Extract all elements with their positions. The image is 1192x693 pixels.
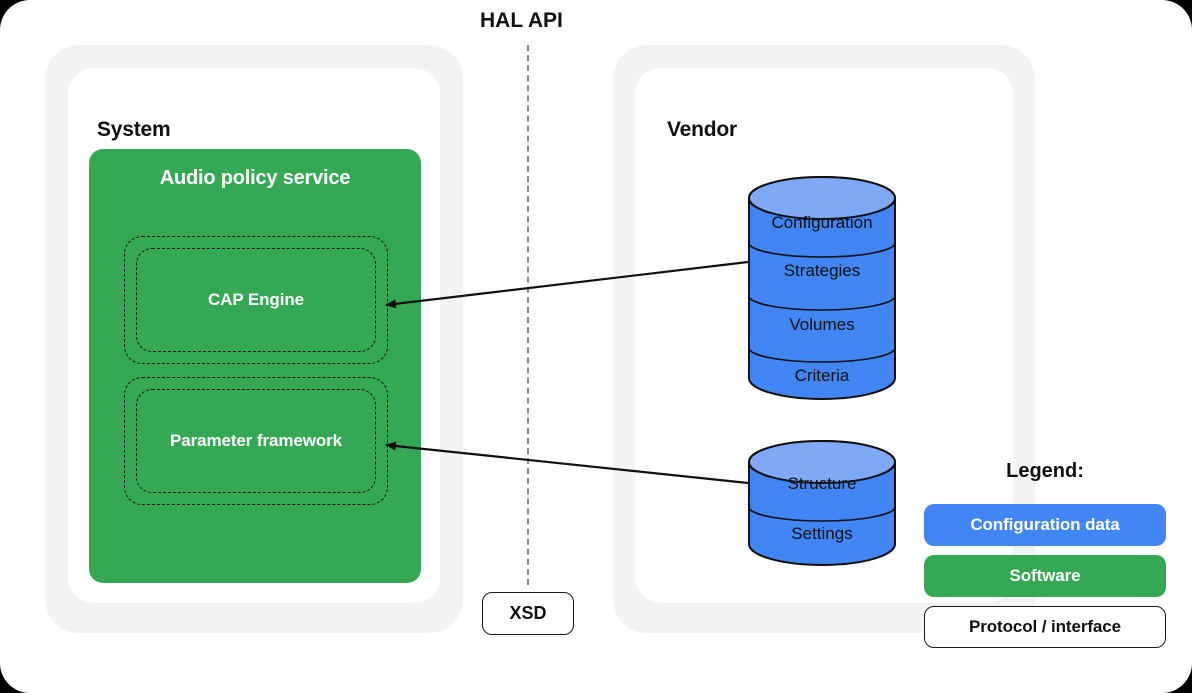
legend-item-protocol-interface[interactable]: Protocol / interface (924, 606, 1166, 648)
hal-api-divider-line (527, 45, 529, 585)
diagram-canvas: System Audio policy service CAP Engine P… (0, 0, 1192, 693)
parameter-framework-label: Parameter framework (137, 431, 375, 451)
hal-api-title: HAL API (480, 9, 563, 33)
legend-item-software[interactable]: Software (924, 555, 1166, 597)
policy-configuration-cylinder[interactable]: Configuration Strategies Volumes Criteri… (748, 176, 896, 400)
cap-engine-label: CAP Engine (137, 290, 375, 310)
cylinder-segment-label: Strategies (748, 257, 896, 285)
cylinder-segment-label: Configuration (748, 209, 896, 237)
system-title: System (97, 118, 171, 142)
parameter-framework-cylinder[interactable]: Structure Settings (748, 440, 896, 566)
cap-engine-box[interactable]: CAP Engine (136, 248, 376, 352)
legend-title: Legend: (924, 460, 1166, 483)
cylinder-segment-label: Criteria (748, 362, 896, 390)
audio-policy-service-title: Audio policy service (89, 167, 421, 190)
cylinder-segment-label: Volumes (748, 311, 896, 339)
xsd-badge[interactable]: XSD (482, 592, 574, 635)
parameter-framework-box[interactable]: Parameter framework (136, 389, 376, 493)
vendor-title: Vendor (667, 118, 737, 142)
legend-item-configuration-data[interactable]: Configuration data (924, 504, 1166, 546)
audio-policy-service-box[interactable]: Audio policy service CAP Engine Paramete… (89, 149, 421, 583)
cylinder-segment-label: Structure (748, 470, 896, 498)
cylinder-segment-label: Settings (748, 520, 896, 548)
